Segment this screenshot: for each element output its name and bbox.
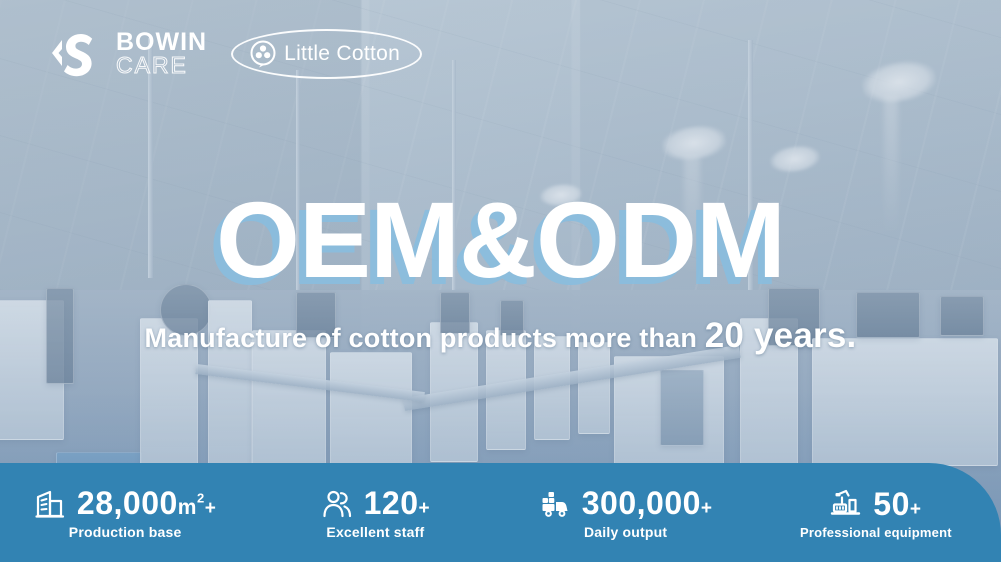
stat-number: 120	[364, 485, 419, 521]
hero-sub-highlight: 20 years.	[705, 316, 857, 355]
bowin-care-text: CARE	[116, 55, 207, 77]
bowin-wordmark: BOWIN CARE	[116, 31, 207, 77]
stat-label: Excellent staff	[326, 524, 424, 540]
stat-excellent-staff: 120+ Excellent staff	[250, 485, 500, 540]
logo-row: BOWIN CARE Little Cotton	[48, 26, 422, 82]
stat-plus: +	[910, 499, 922, 520]
hero-sub-prefix: Manufacture of cotton products more than	[145, 323, 705, 353]
stat-plus: +	[419, 498, 431, 519]
stat-value-row: 120+	[321, 485, 431, 522]
stat-daily-output: 300,000+ Daily output	[501, 485, 751, 540]
bowin-care-logo[interactable]: BOWIN CARE	[48, 26, 207, 82]
factory-machine-icon	[830, 488, 862, 520]
stat-number: 28,000	[77, 485, 178, 521]
stat-unit-exponent: 2	[197, 490, 205, 505]
people-icon	[321, 488, 353, 520]
stat-label: Professional equipment	[800, 525, 952, 540]
delivery-truck-icon	[539, 488, 571, 520]
hero-subheadline: Manufacture of cotton products more than…	[0, 316, 1001, 356]
stat-value: 50+	[873, 486, 921, 523]
promo-banner: BOWIN CARE Little Cotton OEM&ODM Manufac…	[0, 0, 1001, 562]
stat-unit: m	[178, 496, 197, 519]
stat-production-base: 28,000m2+ Production base	[0, 485, 250, 540]
stat-value-row: 28,000m2+	[34, 485, 216, 522]
stat-number: 300,000	[582, 485, 701, 521]
cotton-flower-icon	[249, 40, 277, 68]
stat-plus: +	[205, 498, 217, 519]
little-cotton-logo[interactable]: Little Cotton	[231, 29, 422, 79]
stat-value-row: 300,000+	[539, 485, 713, 522]
building-icon	[34, 488, 66, 520]
stat-value: 28,000m2+	[77, 485, 216, 522]
stats-bar: 28,000m2+ Production base 120+ Excellent…	[0, 463, 1001, 562]
stat-number: 50	[873, 486, 910, 522]
little-cotton-text: Little Cotton	[284, 42, 400, 66]
stat-value: 120+	[364, 485, 431, 522]
stat-label: Daily output	[584, 524, 667, 540]
bowin-s-mark-icon	[48, 26, 104, 82]
stat-value: 300,000+	[582, 485, 713, 522]
stat-plus: +	[701, 498, 713, 519]
stat-label: Production base	[69, 524, 182, 540]
stat-value-row: 50+	[830, 486, 921, 523]
stat-professional-equipment: 50+ Professional equipment	[751, 486, 1001, 540]
hero-headline: OEM&ODM	[0, 186, 1001, 294]
